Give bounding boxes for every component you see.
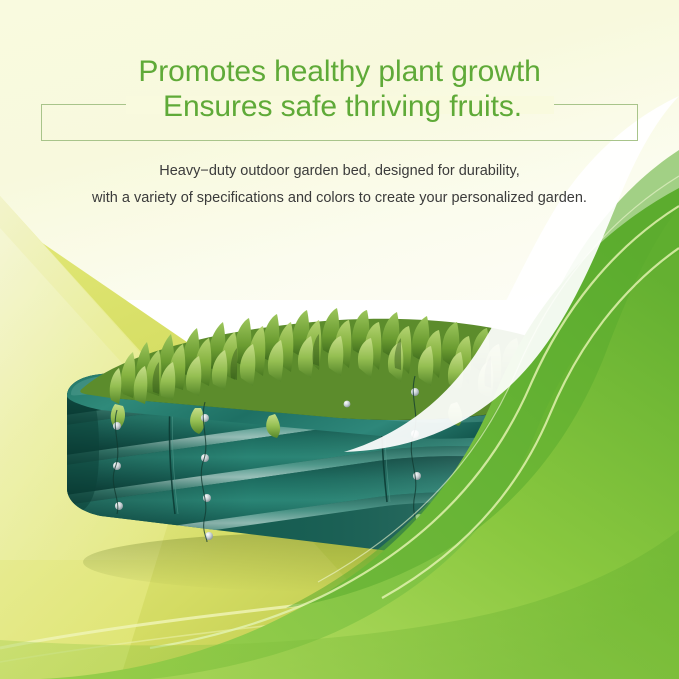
- subtitle-block: Heavy−duty outdoor garden bed, designed …: [0, 158, 679, 212]
- headline-line-2: Ensures safe thriving fruits.: [6, 89, 679, 124]
- subtitle-line-1: Heavy−duty outdoor garden bed, designed …: [0, 158, 679, 185]
- header-block: Promotes healthy plant growth Ensures sa…: [0, 0, 679, 124]
- page-title: Promotes healthy plant growth Ensures sa…: [0, 0, 679, 124]
- subtitle-line-2: with a variety of specifications and col…: [0, 185, 679, 212]
- headline-line-1: Promotes healthy plant growth: [0, 54, 679, 89]
- product-banner: Promotes healthy plant growth Ensures sa…: [0, 0, 679, 679]
